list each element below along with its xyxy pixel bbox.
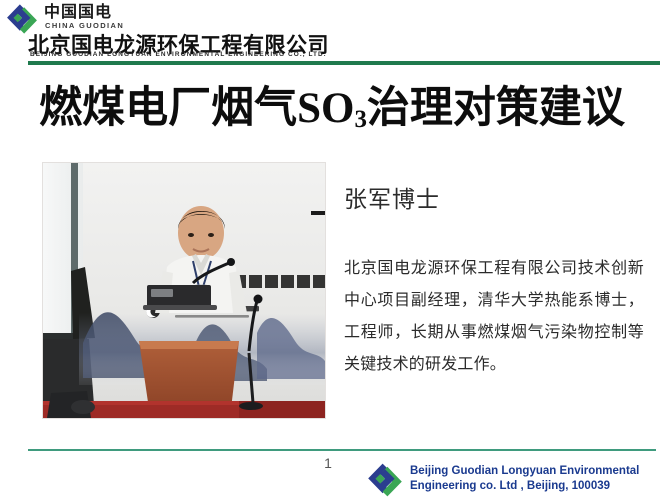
page-number: 1 [318, 455, 338, 471]
title-text-part1: 燃煤电厂烟气 [39, 84, 297, 132]
speaker-name: 张军博士 [344, 180, 440, 214]
speaker-bio: 北京国电龙源环保工程有限公司技术创新中心项目副经理，清华大学热能系博士，工程师，… [344, 253, 644, 381]
footer-company-address: Beijing Guodian Longyuan Environmental E… [410, 464, 660, 494]
company-name-en: BEIJING GUODIAN LONGYUAN ENVIRONMENTAL E… [30, 51, 327, 58]
footer-divider [28, 449, 656, 451]
header-divider [28, 61, 660, 65]
presentation-slide: 中国国电 CHINA GUODIAN 北京国电龙源环保工程有限公司 BEIJIN… [0, 0, 664, 502]
footer-line-2: Engineering co. Ltd , Beijing, 100039 [410, 479, 660, 494]
guodian-diamond-logo-icon [365, 462, 405, 498]
page-title: 燃煤电厂烟气SO3治理对策建议 [0, 82, 664, 141]
title-text-part2: 治理对策建议 [367, 84, 625, 132]
brand-name-cn-short: 中国国电 [44, 4, 112, 21]
speaker-photo [43, 163, 325, 418]
footer-line-1: Beijing Guodian Longyuan Environmental [410, 464, 660, 479]
formula-subscript: 3 [354, 106, 366, 133]
title-chemical-formula: SO3 [297, 85, 367, 132]
slide-header: 中国国电 CHINA GUODIAN 北京国电龙源环保工程有限公司 BEIJIN… [0, 0, 664, 66]
formula-base: SO [297, 85, 354, 132]
